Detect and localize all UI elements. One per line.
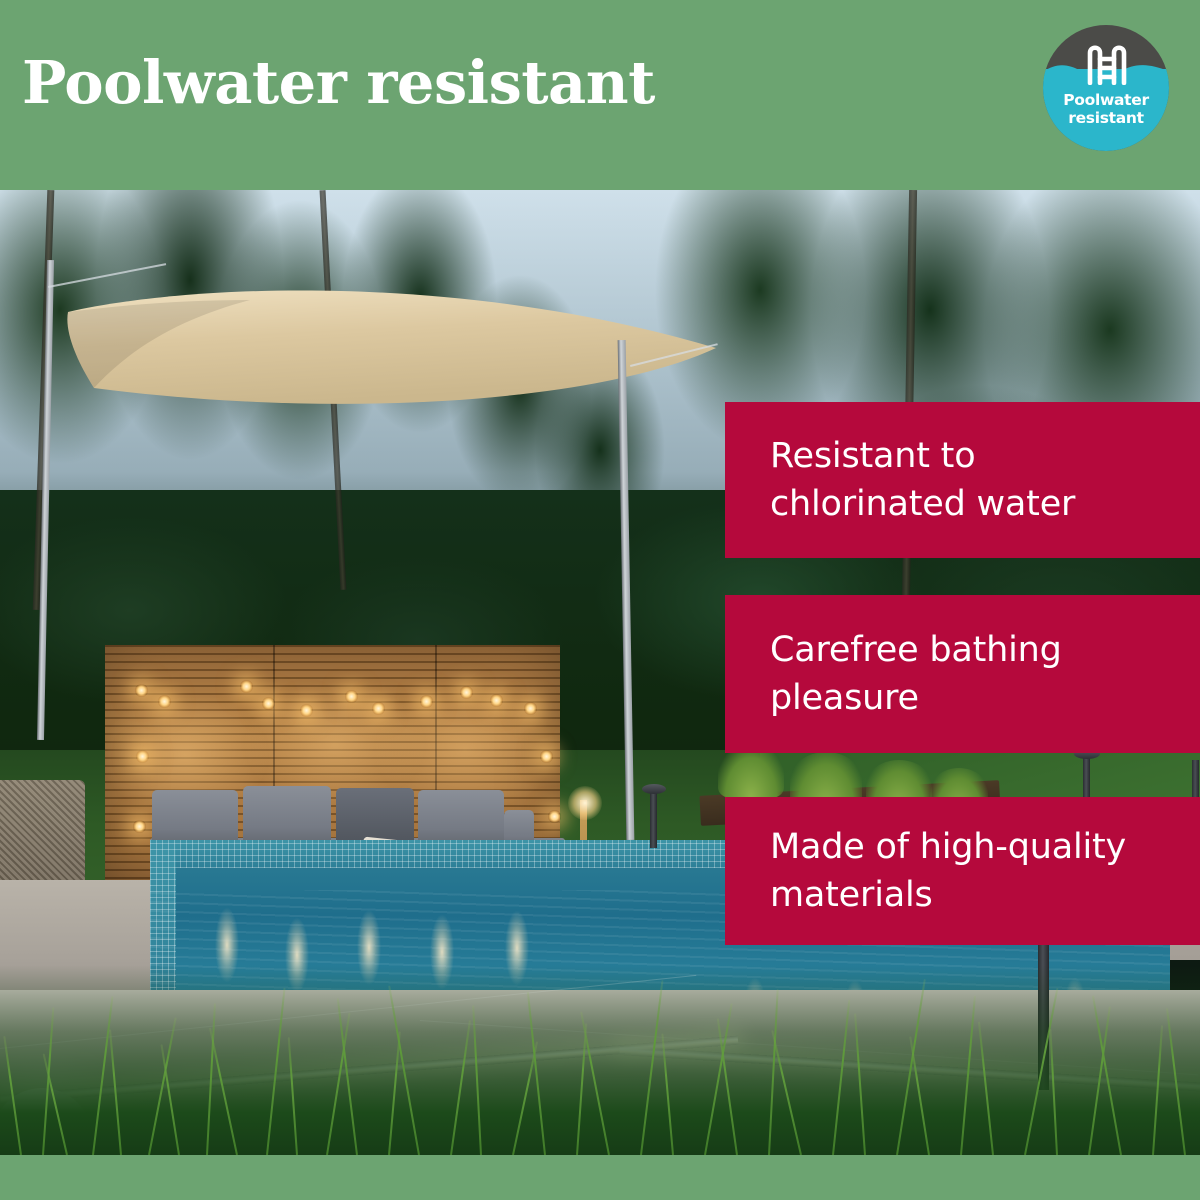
- callout-text-2: Carefree bathing pleasure: [725, 626, 1200, 722]
- grass-blade: [148, 1017, 177, 1155]
- ornamental-grass-clump: [718, 746, 784, 798]
- grass-blade: [388, 985, 420, 1155]
- grass-blade: [266, 988, 286, 1155]
- grass-blade: [661, 1033, 674, 1155]
- grass-blade: [109, 1029, 122, 1155]
- grass-blade: [978, 1022, 994, 1155]
- grass-blade: [832, 1000, 850, 1155]
- grass-blade: [771, 1030, 802, 1155]
- grass-blade: [1152, 1025, 1163, 1155]
- grass-blade: [209, 1028, 238, 1155]
- grass-blade: [450, 1020, 471, 1155]
- string-light-bulb: [540, 750, 553, 763]
- string-light-bulb: [262, 697, 275, 710]
- string-light-bulb: [135, 684, 148, 697]
- grass-blade: [640, 980, 663, 1155]
- string-light-bulb: [240, 680, 253, 693]
- sofa-back-cushion: [243, 786, 331, 846]
- grass-blade: [206, 1003, 216, 1155]
- badge-label: Poolwater resistant: [1043, 91, 1169, 127]
- string-light-bulb: [345, 690, 358, 703]
- badge-label-line1: Poolwater: [1043, 91, 1169, 109]
- string-light-bulb: [300, 704, 313, 717]
- callout-box-3: Made of high-quality materials: [725, 797, 1200, 945]
- grass-blade: [960, 996, 976, 1155]
- sofa-back-cushion: [152, 790, 238, 846]
- grass-blade: [3, 1036, 22, 1155]
- sofa-back-cushion: [418, 790, 504, 846]
- string-light-bulb: [133, 820, 146, 833]
- grass-blade: [1166, 1008, 1186, 1155]
- beige-shade-sail: [40, 270, 740, 490]
- string-light-bulb: [158, 695, 171, 708]
- footer-bar: [0, 1155, 1200, 1200]
- page-title: Poolwater resistant: [22, 48, 655, 117]
- grass-blade: [160, 1044, 179, 1155]
- callout-box-1: Resistant to chlorinated water: [725, 402, 1200, 558]
- garden-pool-photo: Resistant to chlorinated water Carefree …: [0, 190, 1200, 1155]
- string-light-bulb: [372, 702, 385, 715]
- grass-blade: [92, 996, 113, 1155]
- string-light-bulb: [524, 702, 537, 715]
- lantern-glow: [568, 786, 602, 820]
- pool-ladder-icon: [1079, 39, 1135, 85]
- string-light-bulb: [136, 750, 149, 763]
- string-light-bulb: [460, 686, 473, 699]
- string-light-bulb: [490, 694, 503, 707]
- grass-blade: [909, 1036, 930, 1155]
- badge-label-line2: resistant: [1043, 109, 1169, 127]
- grass-blade: [580, 1011, 610, 1155]
- grass-blade: [854, 1013, 866, 1155]
- poolwater-resistant-badge: Poolwater resistant: [1043, 25, 1169, 151]
- callout-text-3: Made of high-quality materials: [725, 823, 1200, 919]
- grass-blade: [288, 1037, 298, 1155]
- grass-blade: [896, 979, 926, 1155]
- grass-blade: [1049, 1029, 1058, 1155]
- poolwater-resistant-infographic: Poolwater resistant Poolwater resistant: [0, 0, 1200, 1200]
- callout-text-1: Resistant to chlorinated water: [725, 432, 1200, 528]
- foreground-grass-band: [0, 965, 1200, 1155]
- string-light-bulb: [548, 810, 561, 823]
- grass-blade: [768, 989, 779, 1155]
- bollard-light-head: [642, 784, 666, 794]
- header-bar: Poolwater resistant Poolwater resistant: [0, 0, 1200, 190]
- grass-blade: [717, 1018, 738, 1155]
- grass-blade: [472, 1005, 482, 1155]
- callout-box-2: Carefree bathing pleasure: [725, 595, 1200, 753]
- bollard-light-post: [650, 790, 657, 848]
- string-light-bulb: [420, 695, 433, 708]
